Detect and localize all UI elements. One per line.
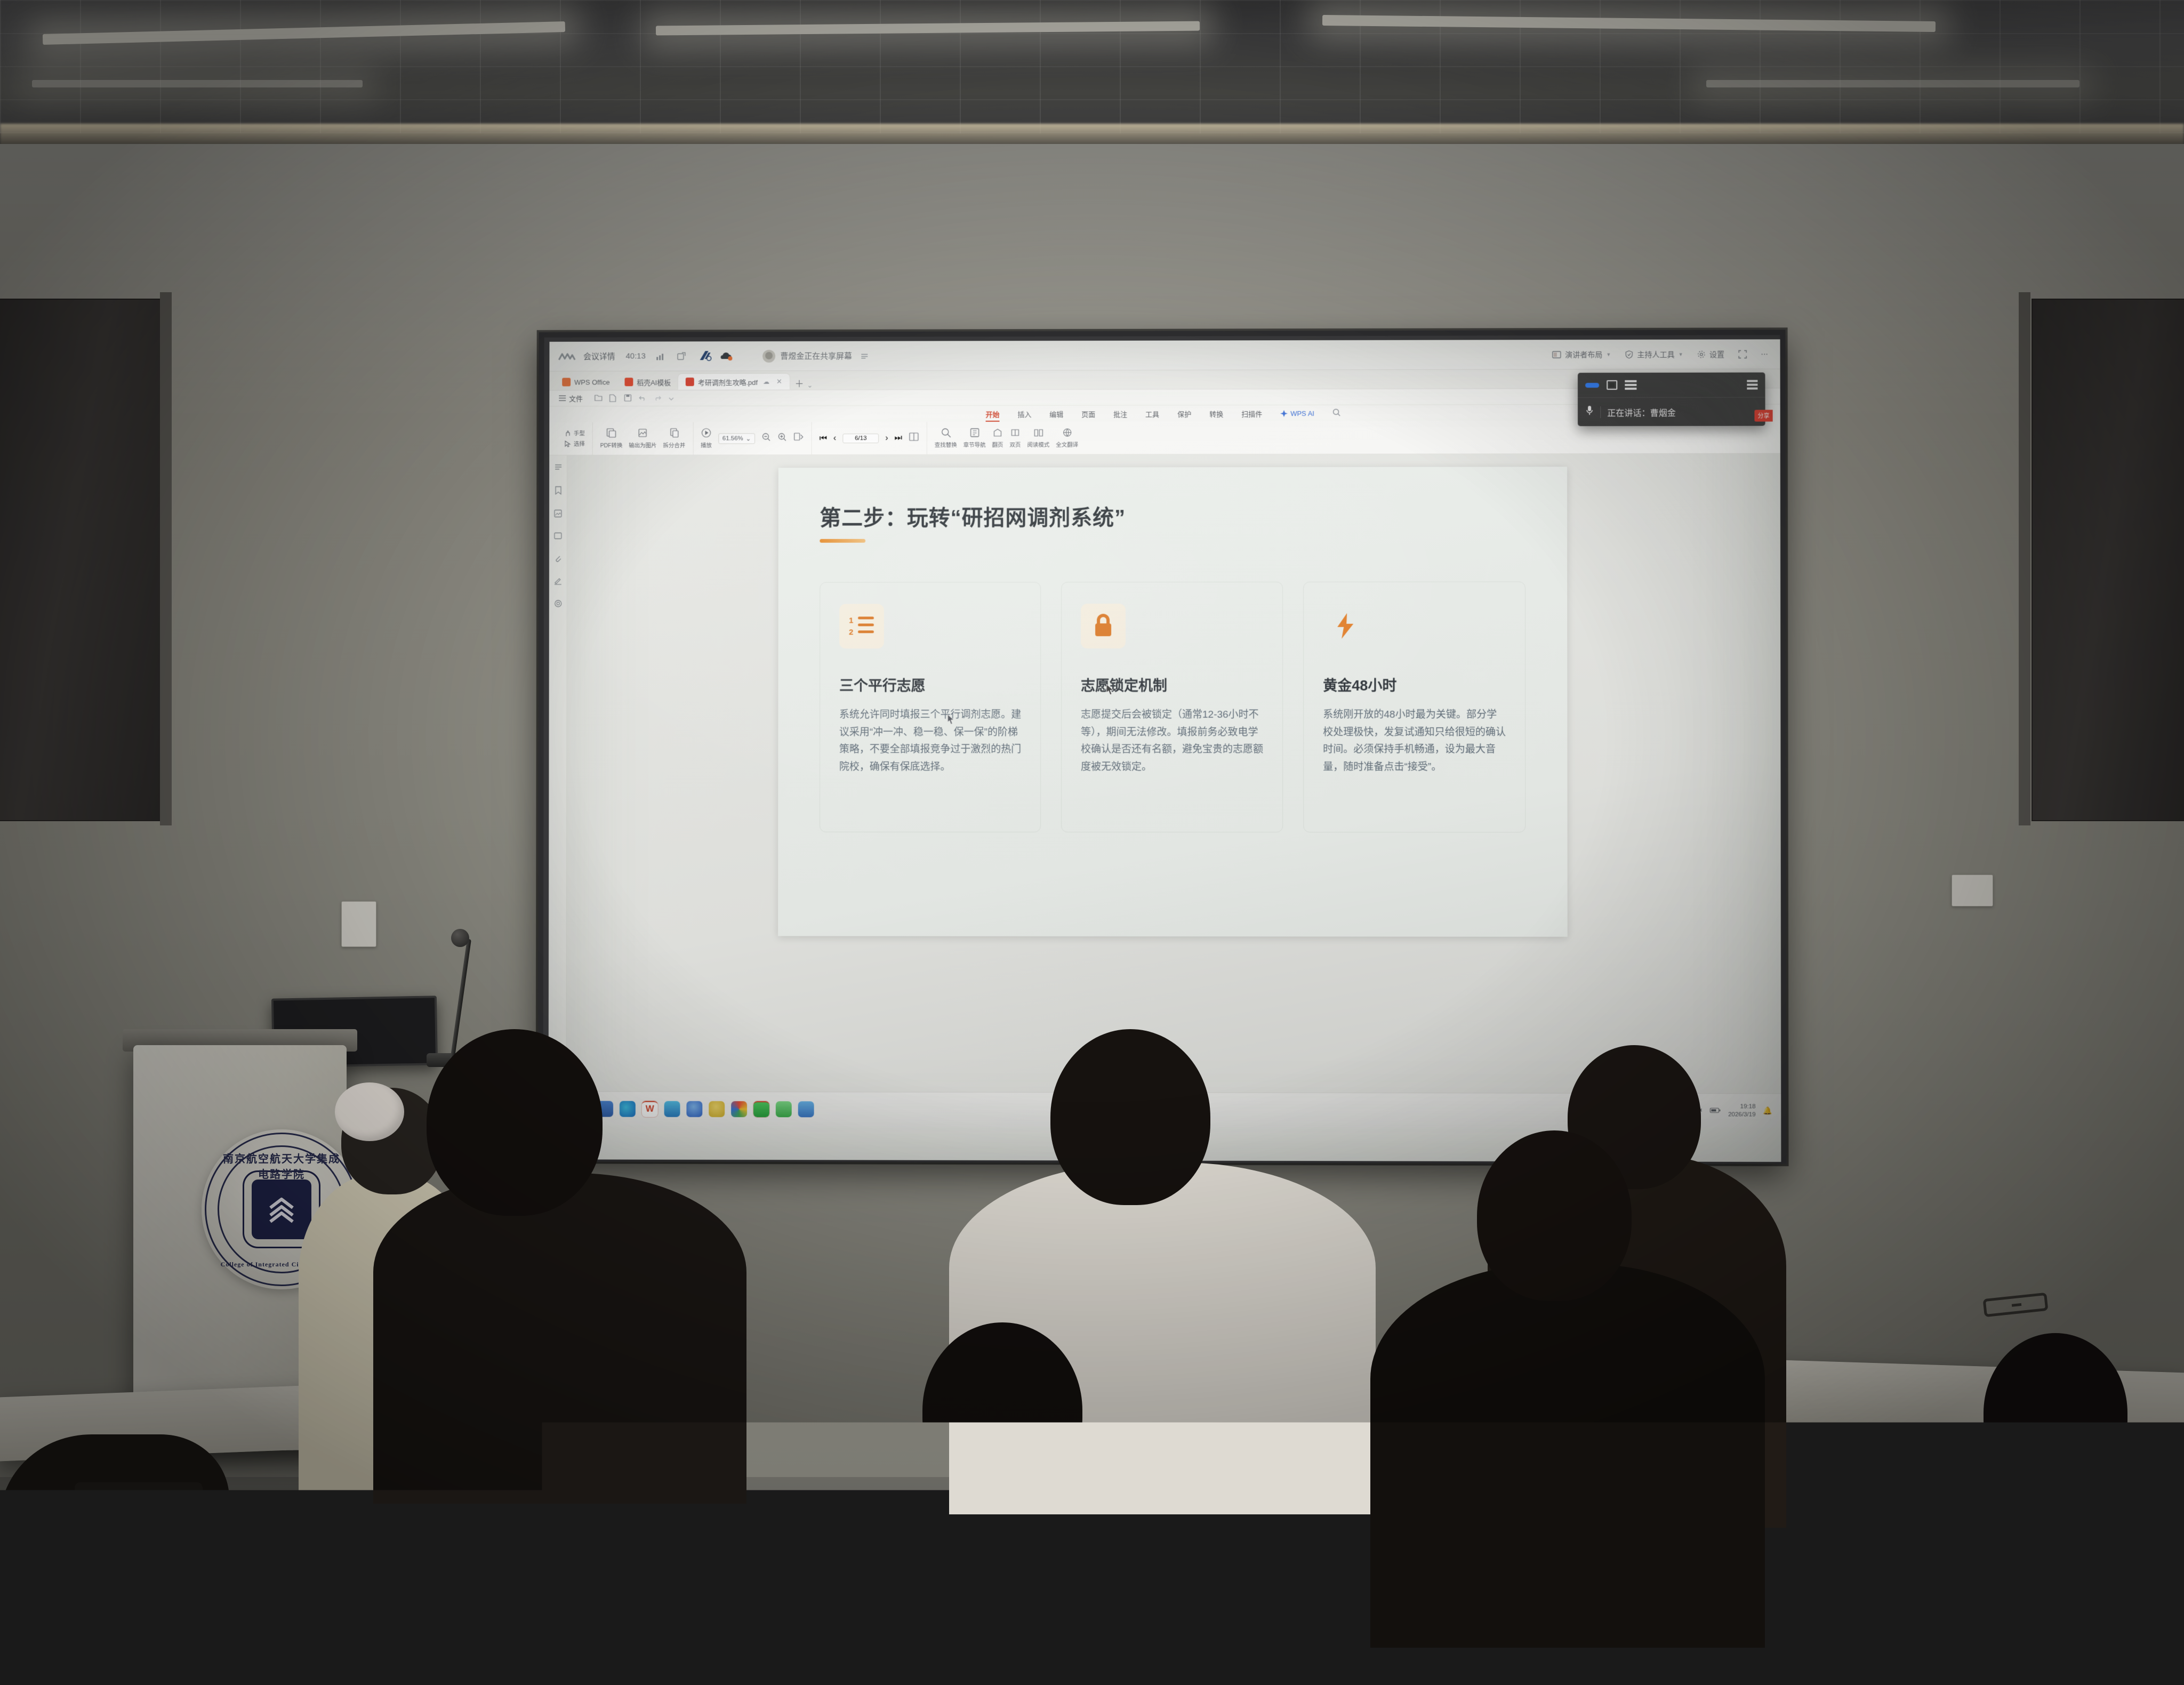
export-image-button[interactable]: 输出为图片 <box>629 428 656 450</box>
full-text-translate-label: 全文翻译 <box>1056 440 1078 448</box>
signature-icon[interactable] <box>554 577 562 586</box>
slide-page: 第二步：玩转“研招网调剂系统” 1 2 <box>778 467 1568 937</box>
pdf-file-icon <box>686 378 694 386</box>
qq-icon[interactable] <box>776 1101 792 1117</box>
new-file-icon[interactable] <box>609 394 617 402</box>
ribbon-tab-convert[interactable]: 转换 <box>1209 408 1223 419</box>
toggle-pill-icon[interactable] <box>1585 383 1599 388</box>
microphone-head <box>451 929 469 947</box>
file-menu[interactable]: 文件 <box>553 393 588 403</box>
card-lock-mechanism: 志愿锁定机制 志愿提交后会被锁定（通常12-36小时不等），期间无法修改。填报前… <box>1061 582 1283 832</box>
svg-text:1: 1 <box>849 616 853 625</box>
ceiling-light <box>32 80 363 87</box>
find-replace-button[interactable]: 查找替换 <box>935 427 957 448</box>
card-body: 系统刚开放的48小时最为关键。部分学校处理极快，发复试通知只给很短的确认时间。必… <box>1323 707 1506 776</box>
outline-nav-label: 章节导航 <box>963 440 986 448</box>
export-image-label: 输出为图片 <box>629 442 656 450</box>
read-mode-button[interactable]: 阅读模式 <box>1027 427 1049 448</box>
thumbnail-icon[interactable] <box>554 510 562 519</box>
ribbon-tab-protect[interactable]: 保护 <box>1177 408 1191 419</box>
pdf-convert-button[interactable]: PDF转换 <box>600 428 623 450</box>
page-scroll-container[interactable]: 第二步：玩转“研招网调剂系统” 1 2 <box>566 454 1781 1112</box>
wps-share-icon[interactable] <box>697 349 713 363</box>
split-merge-button[interactable]: 拆分合并 <box>663 428 685 450</box>
hair-scrunchie <box>335 1082 404 1141</box>
chevron-down-icon: ▼ <box>1679 351 1683 357</box>
chevron-down-icon: ⌄ <box>746 435 751 442</box>
list-icon[interactable] <box>1625 380 1636 390</box>
search-icon <box>941 428 951 439</box>
audience-member <box>832 1322 1173 1642</box>
full-text-translate-button[interactable]: 全文翻译 <box>1056 427 1078 448</box>
screen-sharing-status: 曹煜金正在共享屏幕 <box>781 350 852 362</box>
presenter-avatar <box>762 350 775 363</box>
select-tool-button[interactable]: 选择 <box>564 440 585 448</box>
pdf-convert-icon <box>606 428 617 440</box>
redo-icon[interactable] <box>654 394 662 402</box>
zoom-out-icon[interactable] <box>761 432 771 445</box>
tab-label: 稻壳AI模板 <box>637 377 671 387</box>
tab-overflow-chevron-icon[interactable]: ⌄ <box>807 381 813 390</box>
stamp-icon[interactable] <box>554 600 561 608</box>
play-button[interactable]: 播放 <box>701 428 712 450</box>
page-mode-icon <box>993 427 1003 439</box>
open-folder-icon[interactable] <box>595 394 603 402</box>
double-page-icon <box>1010 427 1020 439</box>
cloud-sync-icon[interactable]: ☁ <box>763 378 769 386</box>
meeting-logo-icon <box>558 351 576 362</box>
tab-wps-office[interactable]: WPS Office <box>555 374 617 390</box>
page-number-field[interactable]: 6/13 <box>842 434 879 443</box>
hand-tool-button[interactable]: 手型 <box>564 429 585 437</box>
save-icon[interactable] <box>624 394 632 402</box>
ribbon-tab-scan[interactable]: 扫描件 <box>1241 408 1262 419</box>
current-speaker-label: 正在讲话：曹烟金 <box>1607 405 1676 418</box>
host-tools-button[interactable]: 主持人工具 ▼ <box>1625 349 1683 359</box>
translate-icon <box>1062 427 1072 439</box>
prev-page-icon[interactable]: ‹ <box>833 434 836 443</box>
wps-office-icon <box>562 378 571 387</box>
collapse-right-icon[interactable] <box>1747 380 1757 390</box>
ceiling <box>0 0 2184 133</box>
add-tab-icon[interactable]: ＋ <box>795 376 804 390</box>
card-row: 1 2 三个平行志愿 系统允许同时填报三个平行调剂志愿。建议采用“冲一冲、稳一稳… <box>820 582 1525 833</box>
wps-office-window: WPS Office 稻壳AI模板 考研调剂生攻略.pdf ☁ ✕ ＋ ⌄ <box>549 369 1781 1127</box>
ribbon-tab-start[interactable]: 开始 <box>986 408 1000 419</box>
microphone-icon[interactable] <box>1585 405 1594 419</box>
settings-label: 设置 <box>1709 349 1724 359</box>
read-mode-label: 阅读模式 <box>1027 440 1049 448</box>
split-merge-icon <box>669 428 679 440</box>
audience-member <box>1920 1333 2184 1642</box>
play-label: 播放 <box>701 442 712 450</box>
two-page-spread-icon[interactable] <box>909 432 919 444</box>
ribbon-group-readtools: 查找替换 章节导航 翻页 <box>927 422 1086 454</box>
conference-room: 会议详情 40:13 曹煜金正在共享屏幕 <box>0 0 2184 1638</box>
card-heading: 黄金48小时 <box>1323 674 1506 695</box>
mouse-cursor-secondary <box>947 714 955 726</box>
expand-icon[interactable] <box>675 349 688 363</box>
meeting-icon[interactable] <box>798 1101 814 1117</box>
last-page-icon[interactable]: ⏭ <box>895 434 902 443</box>
export-image-icon <box>637 428 648 440</box>
numbered-list-icon: 1 2 <box>839 604 884 648</box>
divider <box>1600 406 1601 418</box>
zoom-level-value: 61.56% <box>722 435 743 442</box>
share-tag[interactable]: 分享 <box>1754 410 1772 422</box>
ribbon-group-convert: PDF转换 输出为图片 拆分合并 <box>592 422 693 455</box>
fullscreen-icon[interactable] <box>1738 350 1747 358</box>
chevron-down-icon: ▼ <box>1606 351 1611 357</box>
ribbon-group-select: 手型 选择 <box>557 422 592 455</box>
double-page-label: 双页 <box>1009 440 1021 448</box>
wall-switch-plate <box>341 901 376 947</box>
ribbon-tab-comment[interactable]: 批注 <box>1113 408 1127 419</box>
signal-bars-icon[interactable] <box>653 349 667 363</box>
outline-icon[interactable] <box>555 464 562 472</box>
page-mode-button[interactable]: 翻页 <box>992 427 1003 448</box>
settings-button[interactable]: 设置 <box>1697 349 1724 359</box>
zoom-level-select[interactable]: 61.56% ⌄ <box>718 433 755 444</box>
chair <box>75 1482 203 1637</box>
ribbon-tab-tools[interactable]: 工具 <box>1145 408 1159 419</box>
hamburger-icon <box>559 395 566 401</box>
card-body: 志愿提交后会被锁定（通常12-36小时不等），期间无法修改。填报前务必致电学校确… <box>1081 707 1263 776</box>
outline-icon <box>969 427 979 439</box>
page-title: 第二步：玩转“研招网调剂系统” <box>820 500 1525 531</box>
ceiling-light <box>1706 80 2079 87</box>
split-merge-label: 拆分合并 <box>663 442 685 450</box>
fit-page-icon[interactable] <box>793 432 804 444</box>
wps-ai-label: WPS AI <box>1290 409 1314 417</box>
more-dots-icon[interactable] <box>857 349 871 363</box>
speaker-layout-label: 演讲者布局 <box>1565 349 1602 359</box>
tab-label: 考研调剂生攻略.pdf <box>698 376 758 387</box>
zoom-in-icon[interactable] <box>777 432 787 444</box>
close-icon[interactable]: ✕ <box>776 378 782 386</box>
ellipsis-icon[interactable]: ⋯ <box>1761 349 1768 358</box>
lightning-bolt-icon <box>1323 604 1368 648</box>
ribbon-tab-insert[interactable]: 插入 <box>1017 408 1031 419</box>
wall-outlet-plate <box>1952 874 1993 906</box>
document-area: 第二步：玩转“研招网调剂系统” 1 2 <box>549 454 1781 1112</box>
file-menu-label: 文件 <box>569 393 583 403</box>
select-tool-label: 选择 <box>574 440 585 448</box>
ribbon-group-pagenav: ⏮ ‹ 6/13 › ⏭ <box>812 422 927 454</box>
tab-ai-template[interactable]: 稻壳AI模板 <box>617 374 679 390</box>
tab-label: WPS Office <box>574 378 610 386</box>
lock-icon <box>1081 604 1126 648</box>
ribbon-tab-edit[interactable]: 编辑 <box>1049 408 1063 419</box>
svg-text:2: 2 <box>849 628 853 637</box>
page-mode-label: 翻页 <box>992 440 1003 448</box>
ribbon-tab-page[interactable]: 页面 <box>1081 408 1095 419</box>
door-frame-right <box>2019 292 2030 825</box>
meeting-float-panel[interactable]: 正在讲话：曹烟金 分享 <box>1578 372 1765 426</box>
card-body: 系统允许同时填报三个平行调剂志愿。建议采用“冲一冲、稳一稳、保一保”的阶梯策略，… <box>839 707 1021 776</box>
speaker-layout-button[interactable]: 演讲者布局 ▼ <box>1552 349 1611 359</box>
meeting-timer: 40:13 <box>626 351 646 360</box>
ai-template-icon <box>624 378 633 386</box>
quick-access-dropdown-icon[interactable] <box>669 394 677 402</box>
find-replace-label: 查找替换 <box>935 440 957 448</box>
tab-pdf-document[interactable]: 考研调剂生攻略.pdf ☁ ✕ <box>678 374 790 390</box>
host-tools-label: 主持人工具 <box>1637 349 1674 359</box>
card-golden-48h: 黄金48小时 系统刚开放的48小时最为关键。部分学校处理极快，发复试通知只给很短… <box>1303 582 1525 833</box>
ribbon-group-view: 播放 61.56% ⌄ <box>693 422 812 454</box>
card-parallel-choices: 1 2 三个平行志愿 系统允许同时填报三个平行调剂志愿。建议采用“冲一冲、稳一稳… <box>820 582 1041 832</box>
double-page-button[interactable]: 双页 <box>1009 427 1021 448</box>
undo-icon[interactable] <box>639 394 647 402</box>
bookmark-icon[interactable] <box>555 486 562 496</box>
first-page-icon[interactable]: ⏮ <box>820 434 827 443</box>
door-frame-left <box>160 292 172 825</box>
meeting-toolbar: 会议详情 40:13 曹煜金正在共享屏幕 <box>549 339 1780 371</box>
page-icon[interactable] <box>554 532 562 540</box>
hand-tool-label: 手型 <box>574 429 585 437</box>
audience-member <box>395 1029 768 1509</box>
read-mode-icon <box>1033 427 1043 439</box>
attachment-icon[interactable] <box>554 554 562 563</box>
cloud-icon[interactable] <box>719 349 735 363</box>
ai-sparkle-icon <box>1280 410 1288 417</box>
video-frame-icon[interactable] <box>1607 380 1617 390</box>
pdf-convert-label: PDF转换 <box>600 442 623 450</box>
meeting-details-label[interactable]: 会议详情 <box>583 351 615 362</box>
door-right <box>2032 299 2184 821</box>
card-heading: 三个平行志愿 <box>839 674 1021 695</box>
title-underline-accent <box>820 539 865 543</box>
mouse-cursor <box>1106 684 1115 696</box>
play-icon <box>701 428 712 440</box>
door-left <box>0 299 165 821</box>
outline-nav-button[interactable]: 章节导航 <box>963 427 986 448</box>
search-icon[interactable] <box>1332 408 1340 418</box>
left-sidebar-rail <box>549 455 567 1110</box>
audience-member <box>1386 1130 1738 1642</box>
ribbon-tab-wps-ai[interactable]: WPS AI <box>1280 409 1314 417</box>
next-page-icon[interactable]: › <box>885 434 888 443</box>
